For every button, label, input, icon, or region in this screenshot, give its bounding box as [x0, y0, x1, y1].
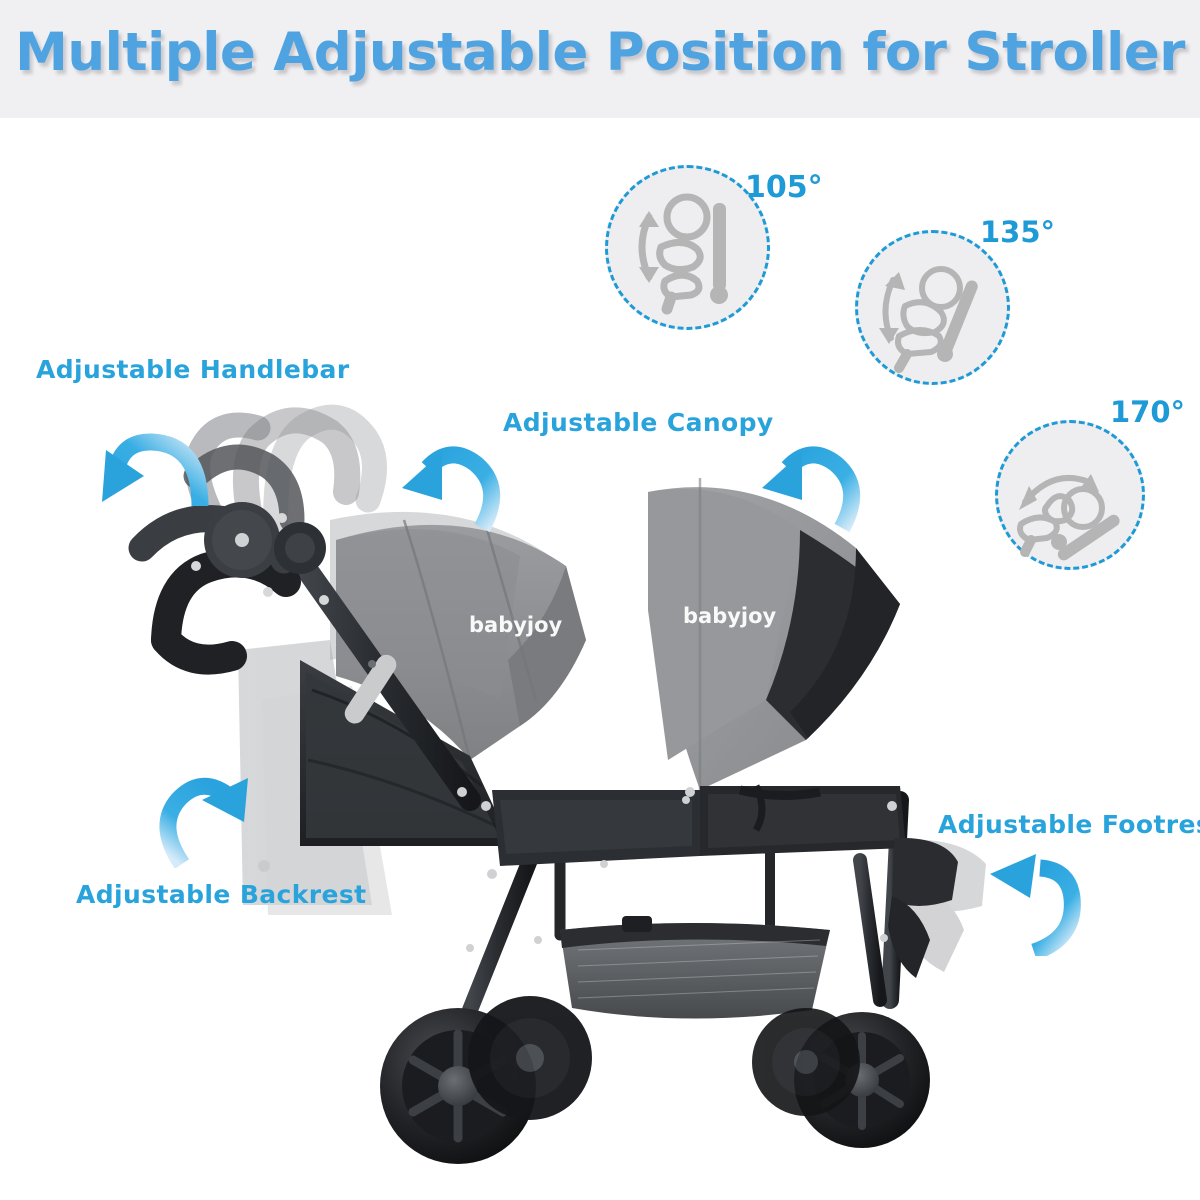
angle-badge-105: 105°: [605, 165, 865, 325]
wheel-front-inner: [752, 1008, 860, 1116]
label-adjustable-canopy: Adjustable Canopy: [503, 408, 774, 437]
label-adjustable-backrest: Adjustable Backrest: [76, 880, 367, 909]
handlebar-arrow: [96, 428, 216, 532]
angle-value-105: 105°: [745, 170, 823, 205]
storage-basket: [560, 916, 830, 1019]
footrest-arrow: [978, 852, 1090, 956]
backrest-arrow: [152, 772, 260, 868]
seat-cushions: [492, 786, 906, 866]
canopy-rear-arrow: [758, 444, 868, 536]
angle-value-135: 135°: [980, 215, 1055, 249]
seat-reclined-icon: [855, 230, 1010, 385]
angle-badge-135: 135°: [855, 215, 1105, 385]
canopy-front-logo: babyjoy: [469, 613, 563, 637]
label-adjustable-footrest: Adjustable Footrest: [938, 810, 1200, 839]
angle-value-170: 170°: [1110, 395, 1185, 429]
angle-badge-170: 170°: [995, 395, 1200, 570]
label-adjustable-handlebar: Adjustable Handlebar: [36, 355, 350, 384]
seat-flat-icon: [995, 420, 1145, 570]
canopy-front-arrow: [398, 444, 508, 536]
wheel-rear-inner: [468, 996, 592, 1120]
stroller-illustration: babyjoy babyjoy: [0, 0, 1200, 1200]
